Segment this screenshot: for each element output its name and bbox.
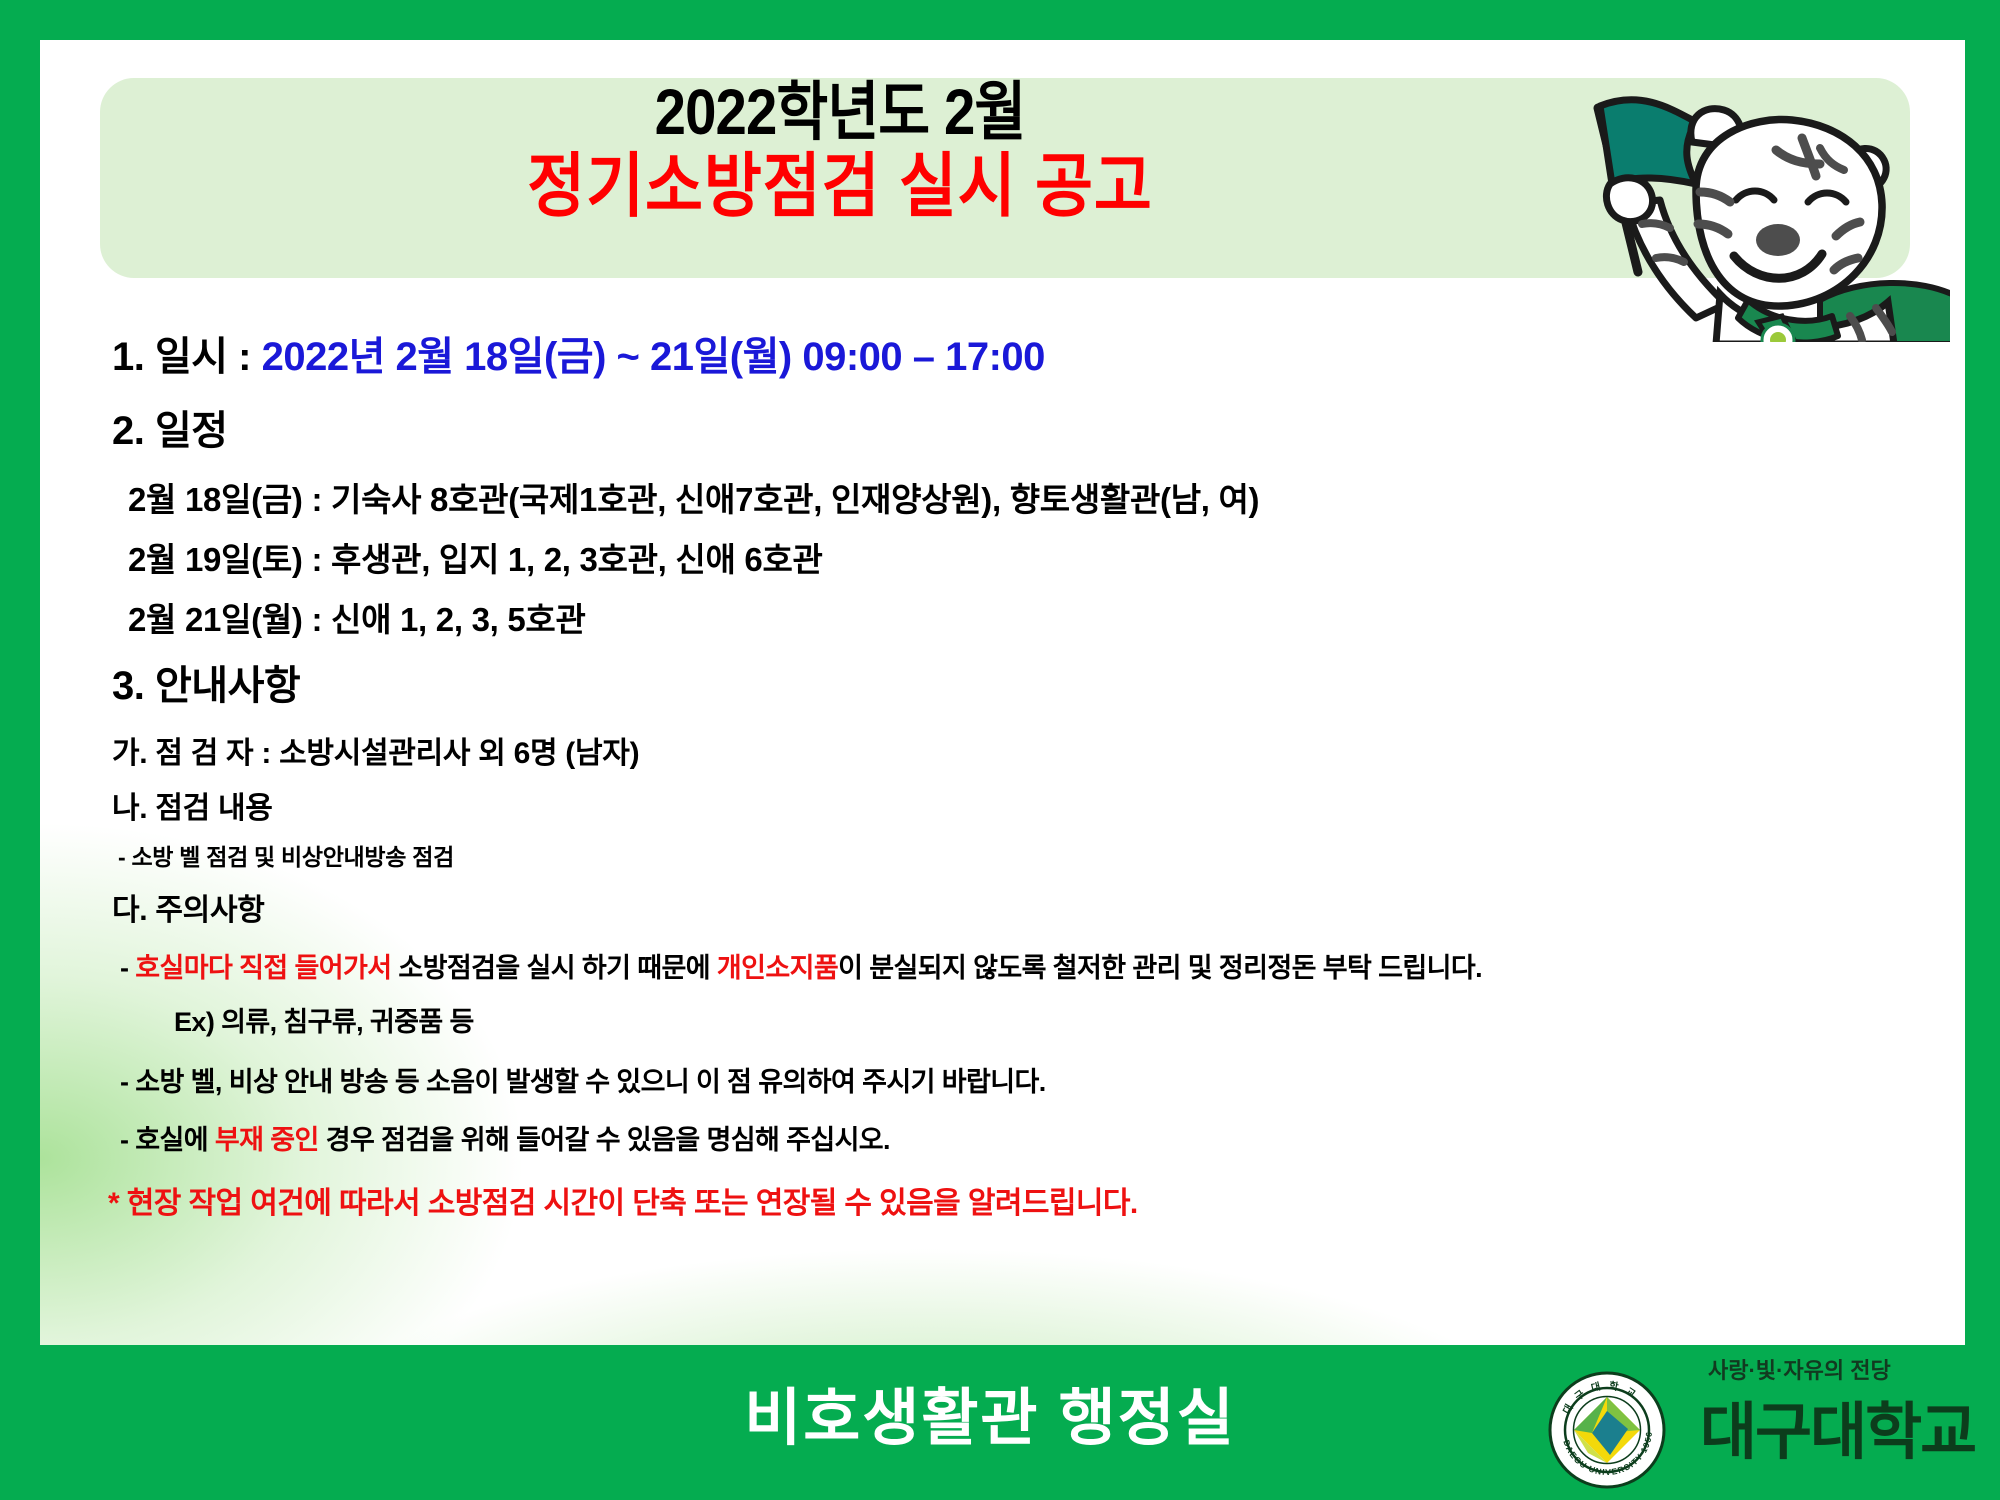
caution-note-1-example: Ex) 의류, 침구류, 귀중품 등	[174, 1000, 474, 1039]
caution-note-3-rich: - 호실에 부재 중인 경우 점검을 위해 들어갈 수 있음을 명심해 주십시오…	[120, 1125, 890, 1155]
schedule-line-2: 2월 19일(토) : 후생관, 입지 1, 2, 3호관, 신애 6호관	[128, 533, 823, 581]
section-2-label: 2. 일정	[112, 398, 228, 456]
content-panel: 2022학년도 2월 정기소방점검 실시 공고	[40, 40, 1965, 1345]
caution-note-1: - 호실마다 직접 들어가서 소방점검을 실시 하기 때문에 개인소지품이 분실…	[120, 946, 1482, 985]
section-3b-scope-label: 나. 점검 내용	[112, 783, 273, 827]
section-3c-caution-label: 다. 주의사항	[112, 885, 265, 929]
section-1-datetime: 1. 일시 : 2022년 2월 18일(금) ~ 21일(월) 09:00 –…	[112, 324, 1045, 382]
announcement-body: 1. 일시 : 2022년 2월 18일(금) ~ 21일(월) 09:00 –…	[40, 288, 1965, 1345]
page-title-line1: 2022학년도 2월	[189, 80, 1491, 146]
section-1-label: 1. 일시 :	[112, 335, 262, 379]
section-3b-scope-item: - 소방 벨 점검 및 비상안내방송 점검	[118, 838, 454, 872]
schedule-line-1: 2월 18일(금) : 기숙사 8호관(국제1호관, 신애7호관, 인재양상원)…	[128, 473, 1259, 521]
poster-root: 2022학년도 2월 정기소방점검 실시 공고	[0, 0, 2000, 1500]
caution-note-3: - 호실에 부재 중인 경우 점검을 위해 들어갈 수 있음을 명심해 주십시오…	[120, 1118, 890, 1157]
university-seal-icon: 대 구 대 학 교 DAEGU UNIVERSITY 1956	[1548, 1371, 1666, 1489]
schedule-line-3: 2월 21일(월) : 신애 1, 2, 3, 5호관	[128, 593, 586, 641]
title-banner: 2022학년도 2월 정기소방점검 실시 공고	[100, 78, 1910, 278]
footer-bar: 비호생활관 행정실 사랑·빛·자유의 전당 대구대학교	[0, 1345, 2000, 1500]
caution-note-1-example-rich: Ex) 의류, 침구류, 귀중품 등	[174, 1007, 474, 1037]
footer-office-name: 비호생활관 행정실	[560, 1367, 1420, 1457]
section-3-label: 3. 안내사항	[112, 653, 300, 711]
logo-university-name: 대구대학교	[1700, 1381, 1975, 1471]
caution-note-1-rich: - 호실마다 직접 들어가서 소방점검을 실시 하기 때문에 개인소지품이 분실…	[120, 953, 1482, 983]
section-3a-inspector: 가. 점 검 자 : 소방시설관리사 외 6명 (남자)	[112, 728, 639, 772]
caution-note-2: - 소방 벨, 비상 안내 방송 등 소음이 발생할 수 있으니 이 점 유의하…	[120, 1060, 1046, 1099]
section-1-value: 2022년 2월 18일(금) ~ 21일(월) 09:00 – 17:00	[262, 335, 1045, 379]
page-title-line2: 정기소방점검 실시 공고	[174, 150, 1506, 222]
title-text-group: 2022학년도 2월 정기소방점검 실시 공고	[100, 80, 1580, 222]
caution-note-2-rich: - 소방 벨, 비상 안내 방송 등 소음이 발생할 수 있으니 이 점 유의하…	[120, 1067, 1046, 1097]
schedule-change-disclaimer: * 현장 작업 여건에 따라서 소방점검 시간이 단축 또는 연장될 수 있음을…	[108, 1178, 1138, 1222]
university-logo: 사랑·빛·자유의 전당 대구대학교	[1548, 1353, 1968, 1493]
